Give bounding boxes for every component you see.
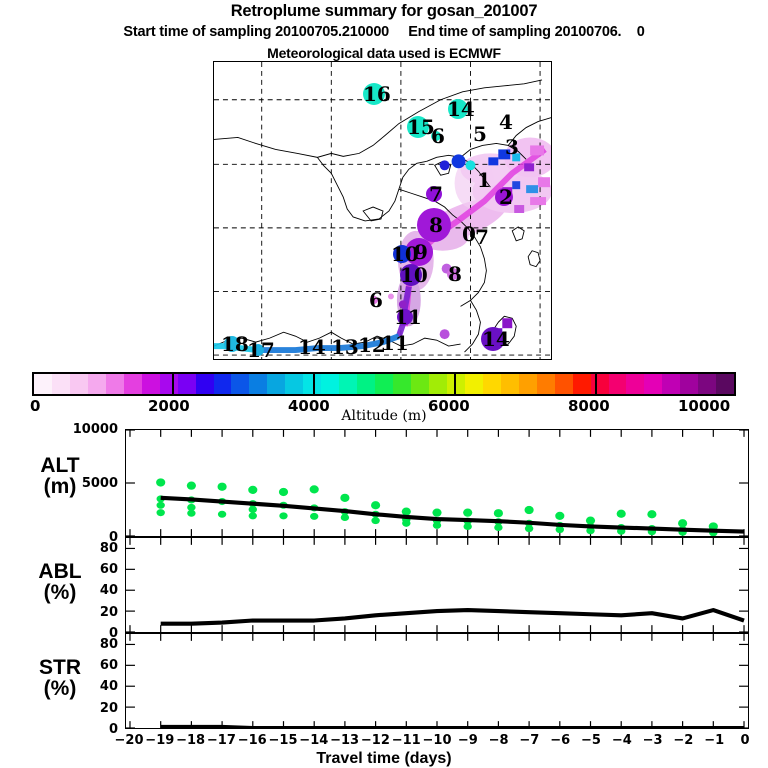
str-panel[interactable] [125, 633, 749, 729]
alt-scatter-dot [249, 506, 257, 513]
alt-scatter-dot [248, 486, 257, 494]
y-tick-label: 20 [100, 701, 118, 716]
x-tick-label: −6 [550, 733, 570, 748]
colorbar-swatch-20 [393, 374, 411, 394]
x-tick-label: −9 [458, 733, 478, 748]
map-marker-label-8: 8 [429, 215, 443, 235]
meteorology-line: Meteorological data used is ECMWF [0, 45, 768, 61]
colorbar-swatch-2 [70, 374, 88, 394]
alt-plot [126, 430, 748, 536]
colorbar-swatch-11 [231, 374, 249, 394]
y-tick-label: 60 [100, 562, 118, 577]
y-tick-label: 80 [100, 637, 118, 652]
alt-scatter-dot [555, 512, 564, 520]
colorbar-swatch-13 [267, 374, 285, 394]
alt-scatter-dot [463, 509, 472, 517]
map-marker-label-14: 14 [447, 99, 475, 119]
map-graphics [214, 62, 551, 359]
alt-scatter-dot [647, 510, 656, 518]
x-tick-label: −1 [704, 733, 724, 748]
map-marker-label-16: 16 [363, 84, 391, 104]
alt-scatter-dot [371, 501, 380, 509]
alt-scatter-dot [525, 506, 534, 514]
colorbar-swatch-24 [465, 374, 483, 394]
alt-scatter-dot [433, 522, 441, 529]
alt-scatter-dot [249, 512, 257, 519]
map-marker-label-6: 6 [369, 290, 383, 310]
colorbar-swatch-10 [214, 374, 232, 394]
alt-scatter-dot [187, 510, 195, 517]
x-tick-label: −18 [176, 733, 205, 748]
alt-scatter-dot [156, 478, 165, 486]
x-tick-label: −11 [392, 733, 421, 748]
x-tick-label: −3 [643, 733, 663, 748]
alt-scatter-dot [157, 502, 165, 509]
altitude-colorbar[interactable] [32, 372, 736, 396]
y-tick-label: 5000 [82, 476, 118, 491]
colorbar-swatch-38 [716, 374, 734, 394]
colorbar-divider [172, 372, 174, 396]
alt-scatter-dot [556, 526, 564, 533]
alt-scatter-dot [310, 485, 319, 493]
x-tick-label: −7 [519, 733, 539, 748]
colorbar-swatch-26 [501, 374, 519, 394]
alt-scatter-dot [341, 514, 349, 521]
map-marker-label-7: 7 [429, 184, 443, 204]
colorbar-swatch-25 [483, 374, 501, 394]
sampling-time-line: Start time of sampling 20100705.210000 E… [0, 24, 768, 40]
x-tick-label: −8 [489, 733, 509, 748]
colorbar-swatch-19 [375, 374, 393, 394]
abl-panel[interactable] [125, 537, 749, 633]
x-tick-label: −15 [269, 733, 298, 748]
map-marker-label-1: 1 [477, 170, 491, 190]
alt-scatter-dot [340, 494, 349, 502]
map-marker-label-14: 14 [298, 337, 326, 357]
map-marker-label-0: 0 [462, 224, 476, 244]
map-marker-label-4: 4 [499, 112, 513, 132]
alt-scatter-dot [279, 512, 287, 519]
map-marker-label-8: 8 [448, 264, 462, 284]
colorbar-swatch-31 [591, 374, 609, 394]
alt-scatter-dot [279, 488, 288, 496]
map-marker-label-11: 11 [394, 307, 422, 327]
alt-scatter-dot [617, 510, 626, 518]
colorbar-swatch-32 [609, 374, 627, 394]
x-tick-label: −4 [612, 733, 632, 748]
alt-scatter-dot [494, 524, 502, 531]
colorbar-swatch-34 [644, 374, 662, 394]
colorbar-swatch-36 [680, 374, 698, 394]
alt-scatter-dot [371, 517, 379, 524]
colorbar-swatch-1 [52, 374, 70, 394]
colorbar-swatch-28 [537, 374, 555, 394]
alt-scatter-dot [218, 483, 227, 491]
colorbar-swatch-6 [142, 374, 160, 394]
map-marker-label-10: 10 [400, 265, 428, 285]
alt-scatter-dot [187, 482, 196, 490]
y-tick-label: 40 [100, 583, 118, 598]
alt-scatter-dot [402, 520, 410, 527]
map-marker-label-5: 5 [473, 124, 487, 144]
y-tick-label: 60 [100, 658, 118, 673]
colorbar-swatch-21 [411, 374, 429, 394]
abl-line [161, 610, 744, 624]
colorbar-swatch-37 [698, 374, 716, 394]
map-marker-label-13: 13 [331, 337, 359, 357]
colorbar-swatch-7 [160, 374, 178, 394]
colorbar-divider [313, 372, 315, 396]
x-tick-label: −2 [673, 733, 693, 748]
colorbar-swatch-4 [106, 374, 124, 394]
colorbar-swatch-9 [196, 374, 214, 394]
colorbar-swatch-27 [519, 374, 537, 394]
colorbar-swatch-22 [429, 374, 447, 394]
colorbar-swatch-16 [321, 374, 339, 394]
alt-panel[interactable] [125, 429, 749, 537]
y-tick-label: 80 [100, 541, 118, 556]
map-marker-label-6: 6 [431, 126, 445, 146]
y-tick-label: 40 [100, 679, 118, 694]
alt-scatter-dot [310, 513, 318, 520]
str-line [161, 727, 744, 728]
map-marker-label-3: 3 [505, 137, 519, 157]
x-tick-label: −10 [423, 733, 452, 748]
x-tick-label: 0 [740, 733, 749, 748]
colorbar-swatch-5 [124, 374, 142, 394]
colorbar-swatch-12 [249, 374, 267, 394]
alt-mean-line [161, 498, 744, 532]
map-marker-label-10: 10 [391, 244, 419, 264]
colorbar-divider [454, 372, 456, 396]
x-tick-labels: −20−19−18−17−16−15−14−13−12−11−10−9−8−7−… [125, 733, 749, 751]
retroplume-map[interactable]: 161415654378910106110712814181714131211 [213, 61, 552, 360]
alt-scatter-dot [432, 509, 441, 517]
alt-scatter-dot [464, 523, 472, 530]
colorbar-swatch-8 [178, 374, 196, 394]
y-tick-label: 10000 [73, 422, 118, 437]
x-tick-label: −19 [145, 733, 174, 748]
x-tick-label: −16 [238, 733, 267, 748]
map-marker-label-18: 18 [221, 334, 249, 354]
colorbar-swatch-17 [339, 374, 357, 394]
abl-plot [126, 538, 748, 632]
alt-scatter-dot [157, 509, 165, 516]
colorbar-swatch-14 [285, 374, 303, 394]
colorbar-swatch-29 [555, 374, 573, 394]
alt-scatter-dot [494, 509, 503, 517]
page-title: Retroplume summary for gosan_201007 [0, 2, 768, 21]
alt-scatter-dot [218, 511, 226, 518]
map-marker-label-2: 2 [499, 187, 513, 207]
map-marker-label-14: 14 [482, 329, 510, 349]
x-axis-title: Travel time (days) [0, 750, 768, 768]
colorbar-divider [595, 372, 597, 396]
x-tick-label: −14 [299, 733, 328, 748]
map-marker-label-7: 7 [475, 227, 489, 247]
colorbar-swatch-18 [357, 374, 375, 394]
x-tick-label: −12 [361, 733, 390, 748]
x-tick-label: −5 [581, 733, 601, 748]
x-tick-label: −17 [207, 733, 236, 748]
x-tick-label: −20 [115, 733, 144, 748]
colorbar-swatch-30 [573, 374, 591, 394]
x-tick-label: −13 [330, 733, 359, 748]
map-marker-label-17: 17 [247, 340, 275, 360]
colorbar-swatch-3 [88, 374, 106, 394]
alt-scatter-dot [402, 507, 411, 515]
str-plot [126, 634, 748, 728]
map-marker-label-11: 11 [381, 333, 409, 353]
colorbar-swatch-35 [662, 374, 680, 394]
colorbar-swatch-0 [34, 374, 52, 394]
y-tick-label: 20 [100, 605, 118, 620]
alt-scatter-dot [525, 525, 533, 532]
colorbar-swatch-33 [626, 374, 644, 394]
